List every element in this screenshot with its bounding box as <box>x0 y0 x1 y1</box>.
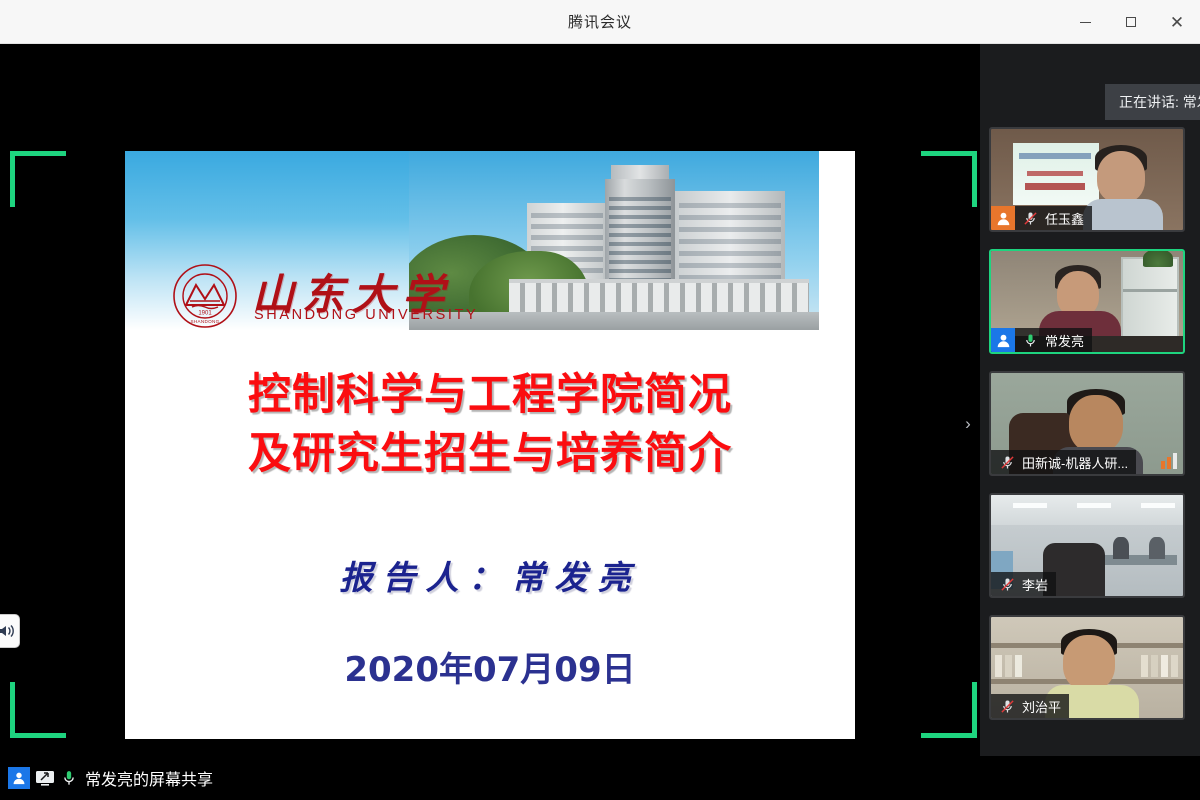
participant-name: 田新诚-机器人研... <box>1022 453 1128 472</box>
participant-tile[interactable]: 常发亮 <box>989 249 1185 354</box>
collapse-panel-button[interactable]: › <box>958 404 978 444</box>
participant-name: 刘治平 <box>1022 697 1061 716</box>
participant-name: 任玉鑫 <box>1045 209 1084 228</box>
share-border-corner-top-right <box>921 151 977 207</box>
window-titlebar: 腾讯会议 ✕ <box>0 0 1200 44</box>
close-icon: ✕ <box>1170 14 1184 31</box>
university-seal-icon: 1901 SHANDONG <box>172 263 238 329</box>
window-title: 腾讯会议 <box>568 11 632 32</box>
mic-status[interactable] <box>996 572 1018 596</box>
participant-label: 任玉鑫 <box>991 206 1092 230</box>
speaker-icon <box>0 621 16 641</box>
mic-off-icon <box>999 698 1016 715</box>
mic-off-icon <box>999 576 1016 593</box>
mic-status[interactable] <box>1019 206 1041 230</box>
avatar <box>991 206 1015 230</box>
share-status-bar: 常发亮的屏幕共享 <box>0 756 1200 800</box>
participant-label: 常发亮 <box>991 328 1092 352</box>
floating-audio-widget[interactable] <box>0 614 20 648</box>
participant-name: 李岩 <box>1022 575 1048 594</box>
share-border-corner-bottom-left <box>10 682 66 738</box>
mic-status[interactable] <box>996 694 1018 718</box>
mic-status[interactable] <box>1019 328 1041 352</box>
person-icon <box>996 211 1011 226</box>
participant-tile[interactable]: 田新诚-机器人研... <box>989 371 1185 476</box>
signal-bars-icon <box>1161 453 1177 469</box>
share-border-corner-bottom-right <box>921 682 977 738</box>
mic-status[interactable] <box>996 450 1018 474</box>
svg-text:1901: 1901 <box>198 311 212 317</box>
participant-tile[interactable]: 任玉鑫 <box>989 127 1185 232</box>
slide-title-line-2: 及研究生招生与培养简介 <box>125 425 855 484</box>
slide-title-line-1: 控制科学与工程学院简况 <box>125 366 855 425</box>
tencent-meeting-window: 腾讯会议 ✕ › <box>0 0 1200 800</box>
person-icon <box>12 771 26 785</box>
svg-text:SHANDONG: SHANDONG <box>191 319 220 324</box>
slide-date: 2020年07月09日 <box>125 642 855 691</box>
participant-tile[interactable]: 李岩 <box>989 493 1185 598</box>
minimize-button[interactable] <box>1062 0 1108 44</box>
share-status-text: 常发亮的屏幕共享 <box>85 766 213 790</box>
participant-label: 刘治平 <box>991 694 1069 718</box>
screen-share-icon[interactable] <box>35 769 55 787</box>
avatar <box>8 767 30 789</box>
mic-off-icon <box>1022 210 1039 227</box>
close-button[interactable]: ✕ <box>1154 0 1200 44</box>
slide-title: 控制科学与工程学院简况 及研究生招生与培养简介 <box>125 366 855 484</box>
maximize-button[interactable] <box>1108 0 1154 44</box>
slide-presenter: 报告人：常发亮 <box>125 551 855 599</box>
shandong-university-logo: 1901 SHANDONG 山东大学 SHANDONG UNIVERSITY <box>172 263 472 325</box>
logo-english-name: SHANDONG UNIVERSITY <box>254 307 478 323</box>
participant-label: 李岩 <box>991 572 1056 596</box>
shared-screen-stage[interactable]: › <box>0 44 980 756</box>
mic-off-icon <box>999 454 1016 471</box>
mic-on-icon <box>1022 332 1039 349</box>
slide-banner-image: 1901 SHANDONG 山东大学 SHANDONG UNIVERSITY <box>125 151 819 330</box>
participant-name: 常发亮 <box>1045 331 1084 350</box>
presentation-slide: 1901 SHANDONG 山东大学 SHANDONG UNIVERSITY 控… <box>125 151 855 739</box>
mic-on-icon[interactable] <box>60 768 78 788</box>
participant-tile[interactable]: 刘治平 <box>989 615 1185 720</box>
speaking-indicator-toast: 正在讲话: 常发亮 <box>1105 84 1200 120</box>
share-border-corner-top-left <box>10 151 66 207</box>
minimize-icon <box>1080 22 1091 23</box>
maximize-icon <box>1126 17 1136 27</box>
person-icon <box>996 333 1011 348</box>
window-controls: ✕ <box>1062 0 1200 44</box>
participant-label: 田新诚-机器人研... <box>991 450 1136 474</box>
avatar <box>991 328 1015 352</box>
